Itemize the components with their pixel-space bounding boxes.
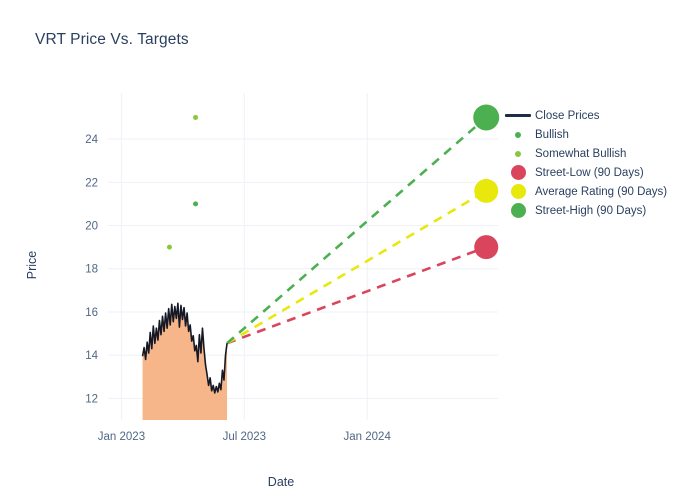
legend-item[interactable]: Street-High (90 Days) bbox=[503, 201, 698, 220]
scatter-point[interactable] bbox=[193, 115, 198, 120]
legend-dot-swatch bbox=[511, 165, 526, 180]
legend-item-label: Street-Low (90 Days) bbox=[533, 167, 644, 179]
x-tick-label: Jan 2023 bbox=[98, 431, 145, 443]
legend-item[interactable]: Somewhat Bullish bbox=[503, 144, 698, 163]
legend-key-dot bbox=[503, 203, 533, 218]
target-markers[interactable] bbox=[473, 104, 499, 259]
y-tick-label: 12 bbox=[85, 393, 98, 405]
legend-dot-swatch bbox=[511, 184, 526, 199]
scatter-point[interactable] bbox=[193, 201, 198, 206]
y-tick-label: 24 bbox=[85, 134, 98, 146]
legend-item[interactable]: Average Rating (90 Days) bbox=[503, 182, 698, 201]
plot-area: 12141618202224 Jan 2023Jul 2023Jan 2024 … bbox=[0, 0, 700, 500]
legend-dot-swatch bbox=[511, 203, 526, 218]
legend-dot-swatch bbox=[515, 132, 521, 138]
legend-item-label: Close Prices bbox=[533, 110, 600, 122]
chart-legend: Close PricesBullishSomewhat BullishStree… bbox=[503, 106, 698, 220]
legend-key-dot bbox=[503, 165, 533, 180]
x-axis-tick-labels: Jan 2023Jul 2023Jan 2024 bbox=[98, 431, 392, 443]
target-projection-lines bbox=[227, 117, 486, 343]
legend-item-label: Bullish bbox=[533, 129, 569, 141]
target-marker[interactable] bbox=[473, 104, 499, 130]
legend-item[interactable]: Close Prices bbox=[503, 106, 698, 125]
legend-item-label: Average Rating (90 Days) bbox=[533, 186, 667, 198]
legend-dot-swatch bbox=[515, 151, 521, 157]
scatter-point[interactable] bbox=[167, 245, 172, 250]
target-projection-line bbox=[227, 247, 486, 343]
y-axis-title: Price bbox=[25, 251, 39, 280]
chart-container: VRT Price Vs. Targets 12141618202224 Jan… bbox=[0, 0, 700, 500]
x-axis-title: Date bbox=[268, 475, 294, 489]
x-tick-label: Jul 2023 bbox=[223, 431, 266, 443]
legend-key-dot bbox=[503, 151, 533, 157]
target-projection-line bbox=[227, 191, 486, 343]
legend-key-line bbox=[503, 114, 533, 117]
y-tick-label: 14 bbox=[85, 350, 98, 362]
legend-line-swatch bbox=[505, 114, 531, 117]
legend-item-label: Somewhat Bullish bbox=[533, 148, 626, 160]
y-axis-tick-labels: 12141618202224 bbox=[85, 134, 98, 405]
legend-item-label: Street-High (90 Days) bbox=[533, 205, 646, 217]
legend-key-dot bbox=[503, 184, 533, 199]
target-marker[interactable] bbox=[474, 179, 498, 203]
legend-item[interactable]: Street-Low (90 Days) bbox=[503, 163, 698, 182]
y-tick-label: 22 bbox=[85, 177, 98, 189]
y-tick-label: 20 bbox=[85, 221, 98, 233]
y-tick-label: 18 bbox=[85, 264, 98, 276]
target-marker[interactable] bbox=[474, 235, 498, 259]
legend-key-dot bbox=[503, 132, 533, 138]
target-projection-line bbox=[227, 117, 486, 343]
legend-item[interactable]: Bullish bbox=[503, 125, 698, 144]
y-tick-label: 16 bbox=[85, 307, 98, 319]
x-tick-label: Jan 2024 bbox=[344, 431, 392, 443]
